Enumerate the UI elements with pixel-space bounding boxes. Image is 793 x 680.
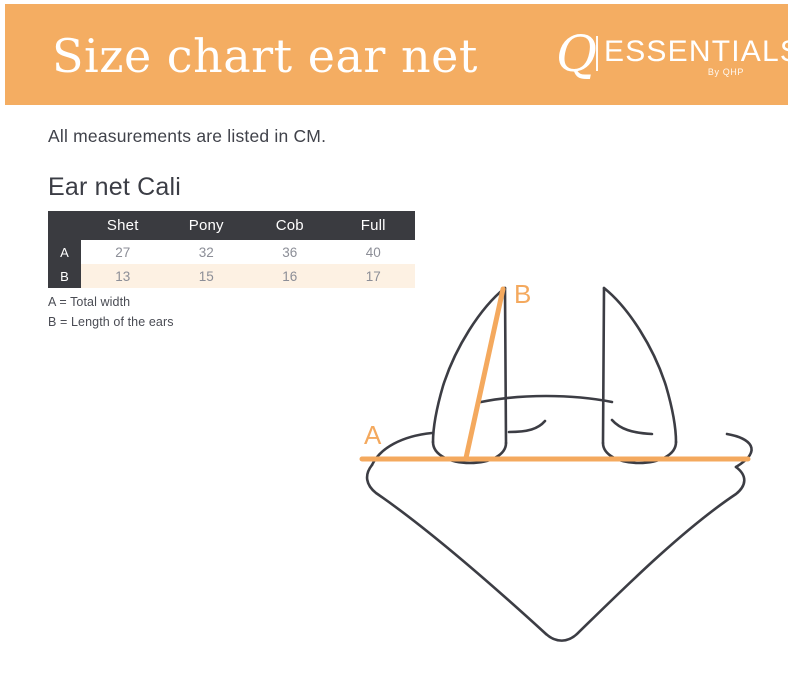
left-ear-outer-edge: [433, 288, 505, 442]
ear-net-diagram: A B: [340, 262, 770, 652]
table-corner-cell: [48, 211, 81, 240]
bonnet-right-edge: [578, 467, 744, 633]
table-column-header-cob: Cob: [248, 211, 332, 240]
diagram-label-a: A: [364, 420, 381, 451]
left-ear-inner-edge: [505, 288, 506, 443]
logo-divider-icon: [596, 36, 598, 71]
table-column-header-shet: Shet: [81, 211, 165, 240]
right-ear-outer-edge: [604, 288, 676, 442]
cell-b-shet: 13: [81, 264, 165, 288]
ear-net-illustration-icon: [340, 262, 770, 652]
bonnet-right-inner-shoulder: [612, 420, 652, 434]
cell-a-full: 40: [332, 240, 416, 264]
measure-line-b: [466, 289, 503, 458]
table-column-header-pony: Pony: [165, 211, 249, 240]
cell-a-pony: 32: [165, 240, 249, 264]
diagram-label-b: B: [514, 279, 531, 310]
brand-logo: Q ESSENTIALS By QHP: [556, 30, 746, 86]
row-label-a: A: [48, 240, 81, 264]
logo-q-mark: Q: [556, 26, 597, 82]
legend-total-width: A = Total width: [48, 295, 130, 309]
cell-a-cob: 36: [248, 240, 332, 264]
section-title: Ear net Cali: [48, 173, 181, 202]
header-band: Size chart ear net Q ESSENTIALS By QHP: [5, 4, 788, 105]
page-title: Size chart ear net: [52, 26, 478, 86]
bonnet-bottom-point: [546, 633, 578, 641]
bonnet-left-edge: [367, 465, 546, 634]
cell-b-cob: 16: [248, 264, 332, 288]
legend-ear-length: B = Length of the ears: [48, 315, 174, 329]
table-head: Shet Pony Cob Full: [48, 211, 415, 240]
right-ear-inner-edge: [603, 288, 604, 443]
logo-subtitle: By QHP: [708, 67, 744, 77]
measurement-note: All measurements are listed in CM.: [48, 126, 326, 147]
bonnet-left-inner-shoulder: [509, 421, 545, 432]
ear-bridge-arc: [481, 396, 612, 402]
cell-b-pony: 15: [165, 264, 249, 288]
table-header-row: Shet Pony Cob Full: [48, 211, 415, 240]
size-chart-page: Size chart ear net Q ESSENTIALS By QHP A…: [0, 0, 793, 680]
logo-wordmark: ESSENTIALS: [604, 35, 793, 69]
row-label-b: B: [48, 264, 81, 288]
cell-a-shet: 27: [81, 240, 165, 264]
table-column-header-full: Full: [332, 211, 416, 240]
bonnet-right-shoulder: [727, 434, 752, 467]
table-row: A 27 32 36 40: [48, 240, 415, 264]
